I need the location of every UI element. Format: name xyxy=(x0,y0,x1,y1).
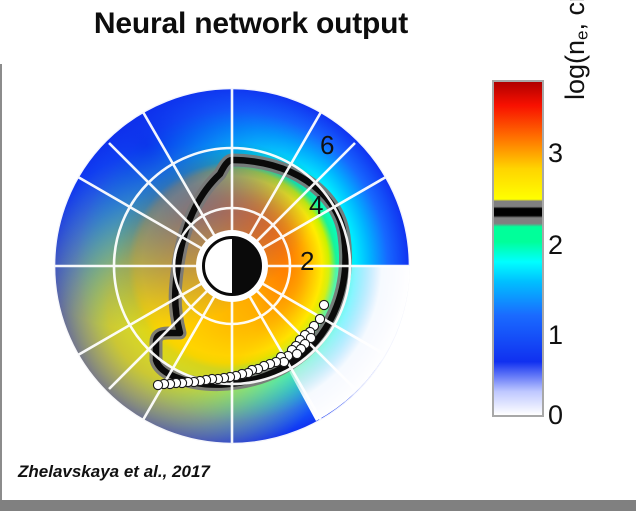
colorbar-gradient xyxy=(494,82,542,415)
slide-bottom-bar xyxy=(0,500,636,511)
colorbar-tick-2: 2 xyxy=(548,232,563,259)
colorbar-label-prefix: log(n xyxy=(560,40,590,100)
earth-marker xyxy=(196,230,268,302)
citation-text: Zhelavskaya et al., 2017 xyxy=(18,462,210,482)
radial-tick-4: 4 xyxy=(309,192,323,218)
colorbar-tick-1: 1 xyxy=(548,322,563,349)
slide-canvas: Neural network output xyxy=(0,0,636,511)
colorbar-tick-0: 0 xyxy=(548,402,563,429)
slide-left-border xyxy=(0,64,2,501)
colorbar-label-mid: , cm xyxy=(560,0,590,30)
colorbar xyxy=(492,80,544,417)
colorbar-label-subscript: e xyxy=(573,30,592,39)
colorbar-axis-label: log(ne, cm-3) xyxy=(560,0,593,100)
colorbar-ticks: 3 2 1 0 xyxy=(548,80,582,417)
polar-plot: 6 4 2 xyxy=(52,86,412,446)
radial-tick-6: 6 xyxy=(320,132,334,158)
radial-tick-2: 2 xyxy=(300,248,314,274)
colorbar-tick-3: 3 xyxy=(548,140,563,167)
polar-plot-svg xyxy=(52,86,412,446)
page-title: Neural network output xyxy=(46,7,456,41)
